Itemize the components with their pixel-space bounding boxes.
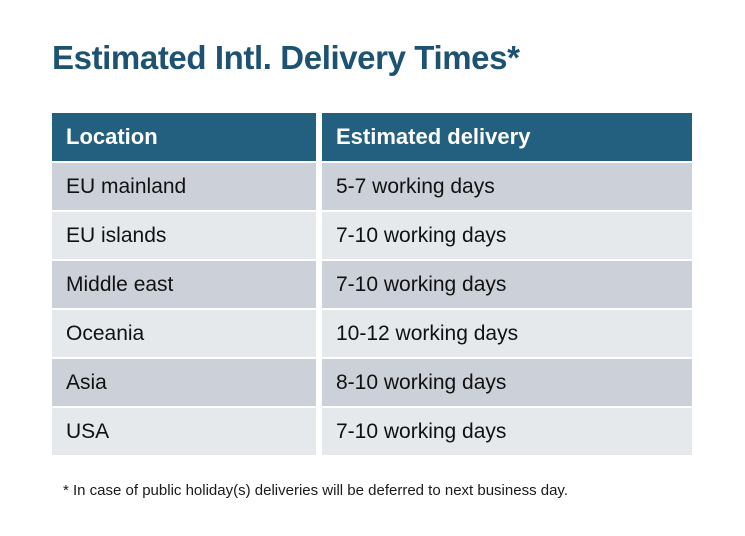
cell-estimated-delivery: 7-10 working days — [322, 408, 692, 455]
table-row: Oceania 10-12 working days — [52, 310, 692, 357]
column-header-location: Location — [52, 113, 316, 161]
cell-estimated-delivery: 8-10 working days — [322, 359, 692, 406]
cell-estimated-delivery: 5-7 working days — [322, 163, 692, 210]
cell-location: Middle east — [52, 261, 316, 308]
cell-estimated-delivery: 10-12 working days — [322, 310, 692, 357]
table-row: USA 7-10 working days — [52, 408, 692, 455]
cell-location: EU mainland — [52, 163, 316, 210]
table-header-row: Location Estimated delivery — [52, 113, 692, 161]
table-row: EU mainland 5-7 working days — [52, 163, 692, 210]
table-row: Middle east 7-10 working days — [52, 261, 692, 308]
cell-location: Oceania — [52, 310, 316, 357]
cell-location: Asia — [52, 359, 316, 406]
cell-estimated-delivery: 7-10 working days — [322, 261, 692, 308]
delivery-times-table: Location Estimated delivery EU mainland … — [52, 113, 692, 457]
table-row: Asia 8-10 working days — [52, 359, 692, 406]
column-header-estimated-delivery: Estimated delivery — [322, 113, 692, 161]
cell-estimated-delivery: 7-10 working days — [322, 212, 692, 259]
page-title: Estimated Intl. Delivery Times* — [52, 38, 520, 78]
footnote-text: * In case of public holiday(s) deliverie… — [63, 481, 568, 501]
delivery-times-page: Estimated Intl. Delivery Times* Location… — [0, 0, 745, 536]
cell-location: USA — [52, 408, 316, 455]
table-row: EU islands 7-10 working days — [52, 212, 692, 259]
cell-location: EU islands — [52, 212, 316, 259]
